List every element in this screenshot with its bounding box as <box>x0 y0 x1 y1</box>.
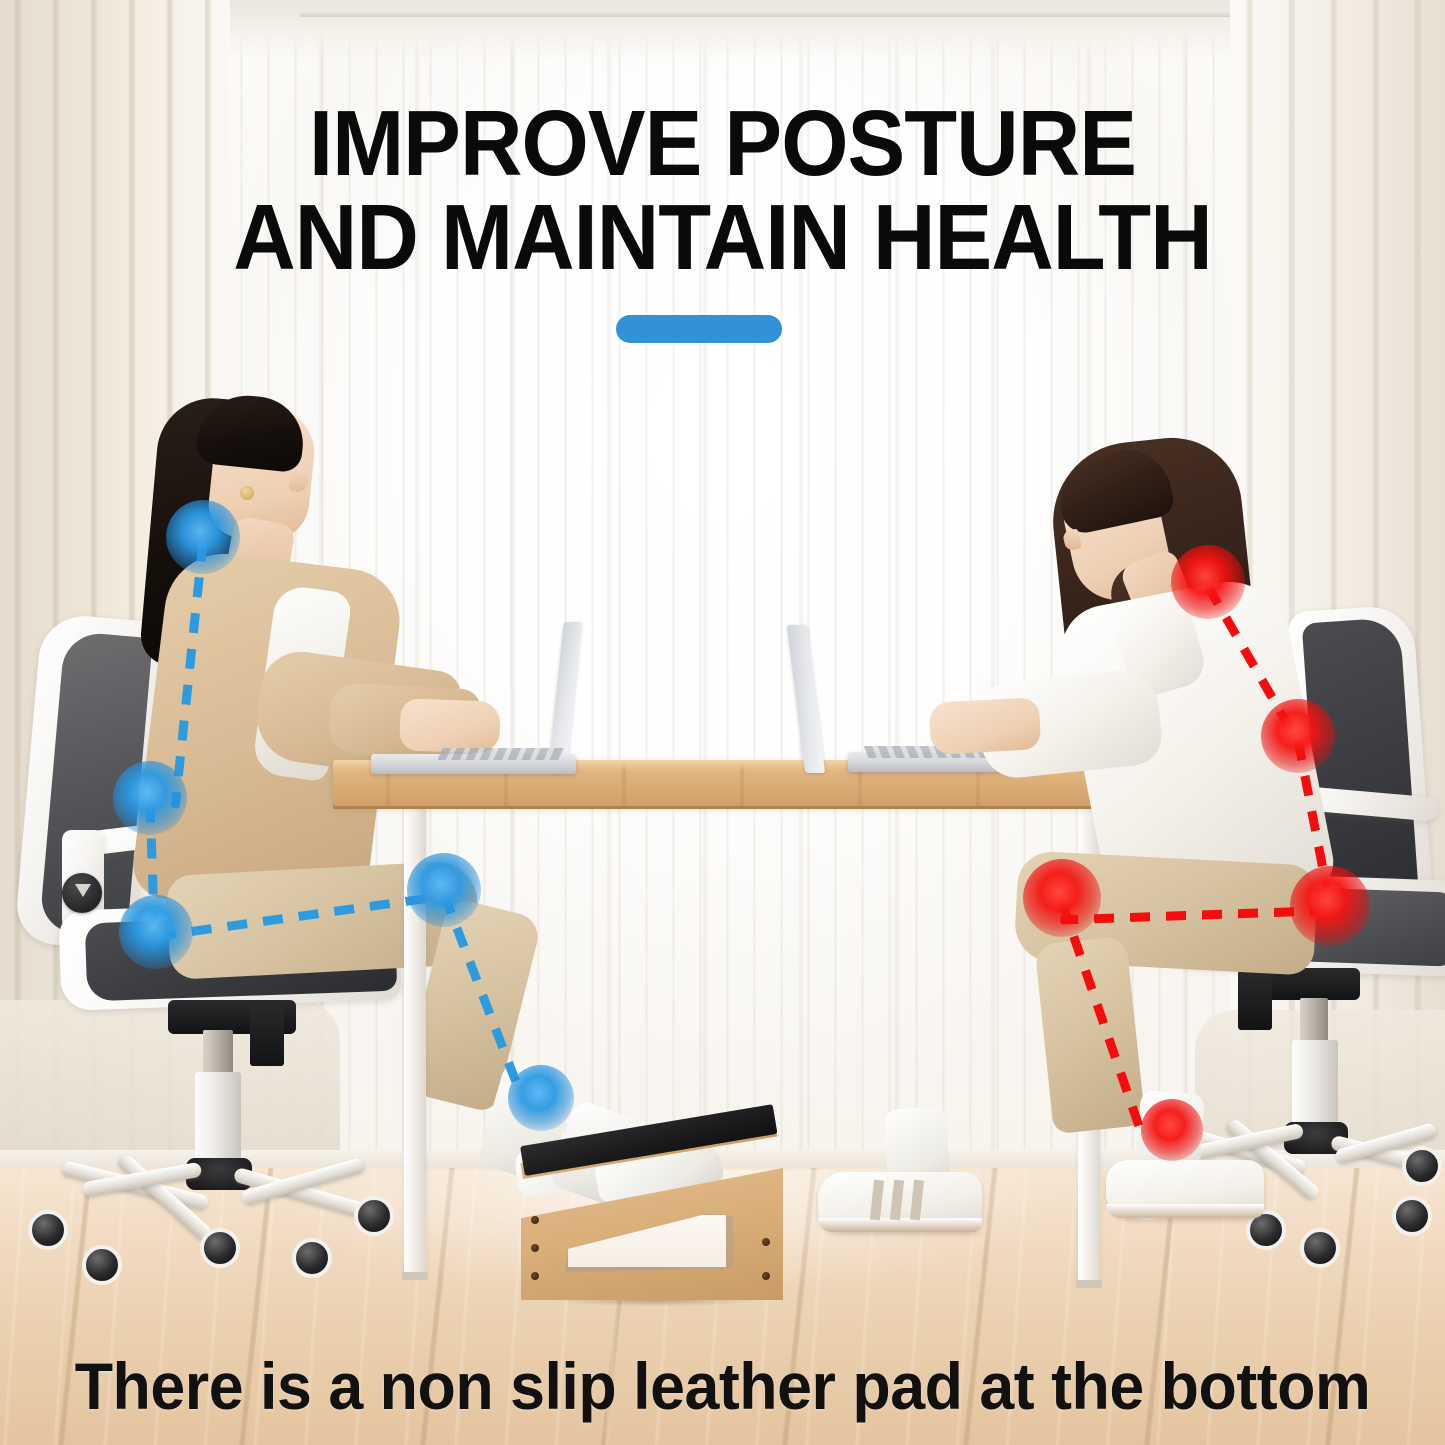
headline-line-1: IMPROVE POSTURE <box>51 98 1395 189</box>
left-laptop-keyboard <box>437 748 564 760</box>
left-chair-tilt-knob <box>62 873 102 913</box>
footrest-screw <box>531 1272 539 1280</box>
left-chair-caster <box>28 1210 68 1250</box>
right-person-sneaker-sole <box>1106 1204 1264 1218</box>
curtain-header <box>175 0 1275 60</box>
desk-leg-foot <box>1076 1280 1102 1288</box>
left-person-earring <box>240 486 254 500</box>
right-chair-caster <box>1300 1228 1340 1268</box>
footrest-screw <box>531 1216 539 1224</box>
right-person-hand <box>929 697 1042 755</box>
product-marketing-image: IMPROVE POSTURE AND MAINTAIN HEALTH Ther… <box>0 0 1445 1445</box>
right-chair-lever <box>1238 972 1272 1030</box>
footrest-screw <box>762 1272 770 1280</box>
left-chair-caster <box>292 1238 332 1278</box>
left-chair-caster <box>354 1196 394 1236</box>
curtain-rod <box>300 12 1310 17</box>
desk-leg-left <box>404 806 426 1276</box>
blue-divider-bar <box>616 315 782 343</box>
headline-line-2: AND MAINTAIN HEALTH <box>51 192 1395 283</box>
left-chair-gas-cylinder <box>195 1072 241 1170</box>
right-chair-caster <box>1402 1146 1442 1186</box>
bottom-caption: There is a non slip leather pad at the b… <box>36 1348 1409 1424</box>
footrest-screw <box>762 1238 770 1246</box>
desk-leg-foot <box>402 1272 428 1280</box>
left-chair-caster <box>82 1245 122 1285</box>
left-chair-caster <box>200 1228 240 1268</box>
footrest-screw <box>531 1244 539 1252</box>
left-chair-lever <box>250 1004 284 1066</box>
right-chair-caster <box>1392 1196 1432 1236</box>
right-person-second-sneaker-sole <box>818 1218 982 1232</box>
left-person-hand <box>399 698 501 753</box>
